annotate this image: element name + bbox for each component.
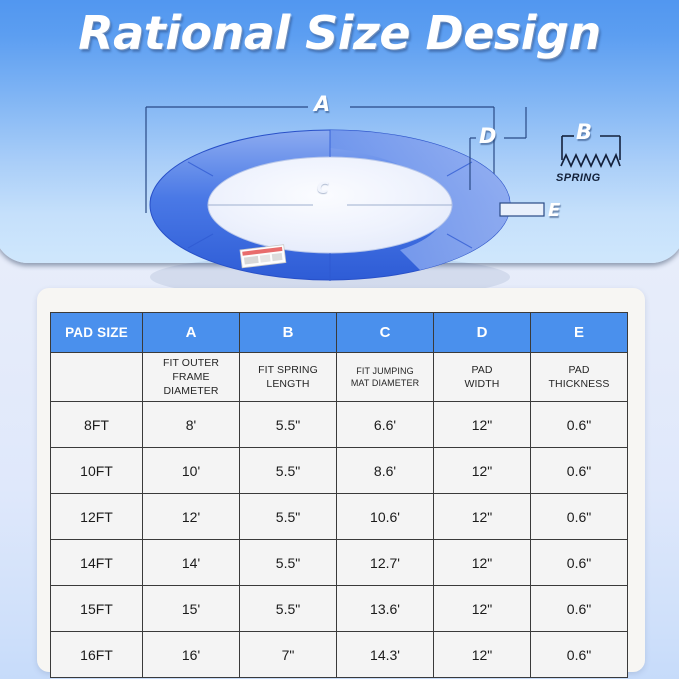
cell-value: 0.6"	[531, 540, 628, 586]
col-header-e: E	[531, 313, 628, 353]
cell-value: 10.6'	[337, 494, 434, 540]
cell-value: 12"	[434, 586, 531, 632]
table-head: PAD SIZE A B C D E	[51, 313, 628, 353]
cell-value: 12"	[434, 402, 531, 448]
col-header-d: D	[434, 313, 531, 353]
subheader-b: FIT SPRING LENGTH	[240, 353, 337, 402]
cell-value: 13.6'	[337, 586, 434, 632]
cell-value: 10'	[143, 448, 240, 494]
cell-value: 6.6'	[337, 402, 434, 448]
subheader-b-line1: FIT SPRING	[258, 364, 318, 376]
table-row: 16FT16'7"14.3'12"0.6"	[51, 632, 628, 678]
cell-value: 8'	[143, 402, 240, 448]
subheader-a-line2: FRAME DIAMETER	[163, 371, 218, 397]
product-infographic: Rational Size Design	[0, 0, 679, 679]
subheader-d: PAD WIDTH	[434, 353, 531, 402]
table-subhead-body: FIT OUTER FRAME DIAMETER FIT SPRING LENG…	[51, 353, 628, 402]
cell-value: 0.6"	[531, 402, 628, 448]
subheader-pad-size	[51, 353, 143, 402]
subheader-b-line2: LENGTH	[266, 378, 309, 390]
cell-value: 0.6"	[531, 448, 628, 494]
cell-pad-size: 14FT	[51, 540, 143, 586]
cell-value: 5.5"	[240, 402, 337, 448]
cell-value: 5.5"	[240, 540, 337, 586]
hero-panel: Rational Size Design	[0, 0, 679, 263]
cell-value: 0.6"	[531, 494, 628, 540]
col-header-c: C	[337, 313, 434, 353]
cell-value: 12'	[143, 494, 240, 540]
subheader-e-line1: PAD	[568, 364, 589, 376]
page-title: Rational Size Design	[0, 6, 679, 60]
cell-pad-size: 12FT	[51, 494, 143, 540]
subheader-c-line2: MAT DIAMETER	[351, 378, 419, 388]
spec-table-card: PAD SIZE A B C D E FIT OUTER FRAME DIAME…	[37, 288, 645, 672]
subheader-c: FIT JUMPING MAT DIAMETER	[337, 353, 434, 402]
cell-value: 0.6"	[531, 586, 628, 632]
table-row: 10FT10'5.5"8.6'12"0.6"	[51, 448, 628, 494]
col-header-pad-size: PAD SIZE	[51, 313, 143, 353]
subheader-a: FIT OUTER FRAME DIAMETER	[143, 353, 240, 402]
col-header-a: A	[143, 313, 240, 353]
subheader-d-line2: WIDTH	[465, 378, 500, 390]
subheader-d-line1: PAD	[471, 364, 492, 376]
cell-pad-size: 16FT	[51, 632, 143, 678]
cell-value: 8.6'	[337, 448, 434, 494]
cell-pad-size: 15FT	[51, 586, 143, 632]
cell-value: 12"	[434, 494, 531, 540]
cell-value: 0.6"	[531, 632, 628, 678]
table-body: 8FT8'5.5"6.6'12"0.6"10FT10'5.5"8.6'12"0.…	[51, 402, 628, 678]
table-row: 15FT15'5.5"13.6'12"0.6"	[51, 586, 628, 632]
col-header-b: B	[240, 313, 337, 353]
cell-value: 12.7'	[337, 540, 434, 586]
subheader-c-line1: FIT JUMPING	[356, 366, 413, 376]
cell-value: 12"	[434, 540, 531, 586]
cell-value: 12"	[434, 448, 531, 494]
cell-pad-size: 10FT	[51, 448, 143, 494]
cell-value: 5.5"	[240, 448, 337, 494]
table-row: 8FT8'5.5"6.6'12"0.6"	[51, 402, 628, 448]
spec-table: PAD SIZE A B C D E FIT OUTER FRAME DIAME…	[50, 312, 628, 678]
cell-value: 12"	[434, 632, 531, 678]
cell-value: 7"	[240, 632, 337, 678]
cell-value: 5.5"	[240, 494, 337, 540]
cell-value: 14'	[143, 540, 240, 586]
cell-value: 14.3'	[337, 632, 434, 678]
table-row: 14FT14'5.5"12.7'12"0.6"	[51, 540, 628, 586]
subheader-e: PAD THICKNESS	[531, 353, 628, 402]
table-subheader-row: FIT OUTER FRAME DIAMETER FIT SPRING LENG…	[51, 353, 628, 402]
table-header-row: PAD SIZE A B C D E	[51, 313, 628, 353]
cell-value: 16'	[143, 632, 240, 678]
cell-value: 15'	[143, 586, 240, 632]
subheader-e-line2: THICKNESS	[549, 378, 610, 390]
cell-value: 5.5"	[240, 586, 337, 632]
subheader-a-line1: FIT OUTER	[163, 357, 219, 369]
table-row: 12FT12'5.5"10.6'12"0.6"	[51, 494, 628, 540]
cell-pad-size: 8FT	[51, 402, 143, 448]
